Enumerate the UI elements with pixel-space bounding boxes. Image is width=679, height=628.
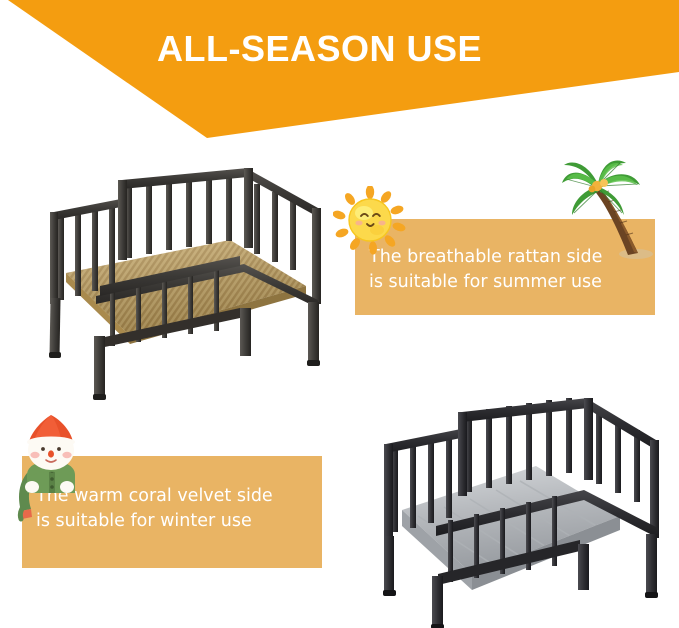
product-image-velvet-bed (340, 398, 670, 628)
banner-shape (0, 0, 679, 145)
rattan-bed-illustration (18, 168, 336, 413)
palm-tree-glyph (558, 157, 662, 262)
snowman-icon (5, 415, 91, 523)
page-title: ALL-SEASON USE (0, 26, 659, 72)
product-image-rattan-bed (18, 168, 336, 413)
sun-icon-glyph (333, 186, 407, 256)
smiling-sun-icon (333, 186, 407, 256)
banner: ALL-SEASON USE (0, 0, 679, 145)
poster-canvas: ALL-SEASON USE (0, 0, 679, 628)
palm-tree-icon (558, 157, 662, 262)
summer-line-2: is suitable for summer use (369, 270, 645, 295)
snowman-glyph (5, 415, 91, 523)
velvet-bed-illustration (340, 398, 670, 628)
